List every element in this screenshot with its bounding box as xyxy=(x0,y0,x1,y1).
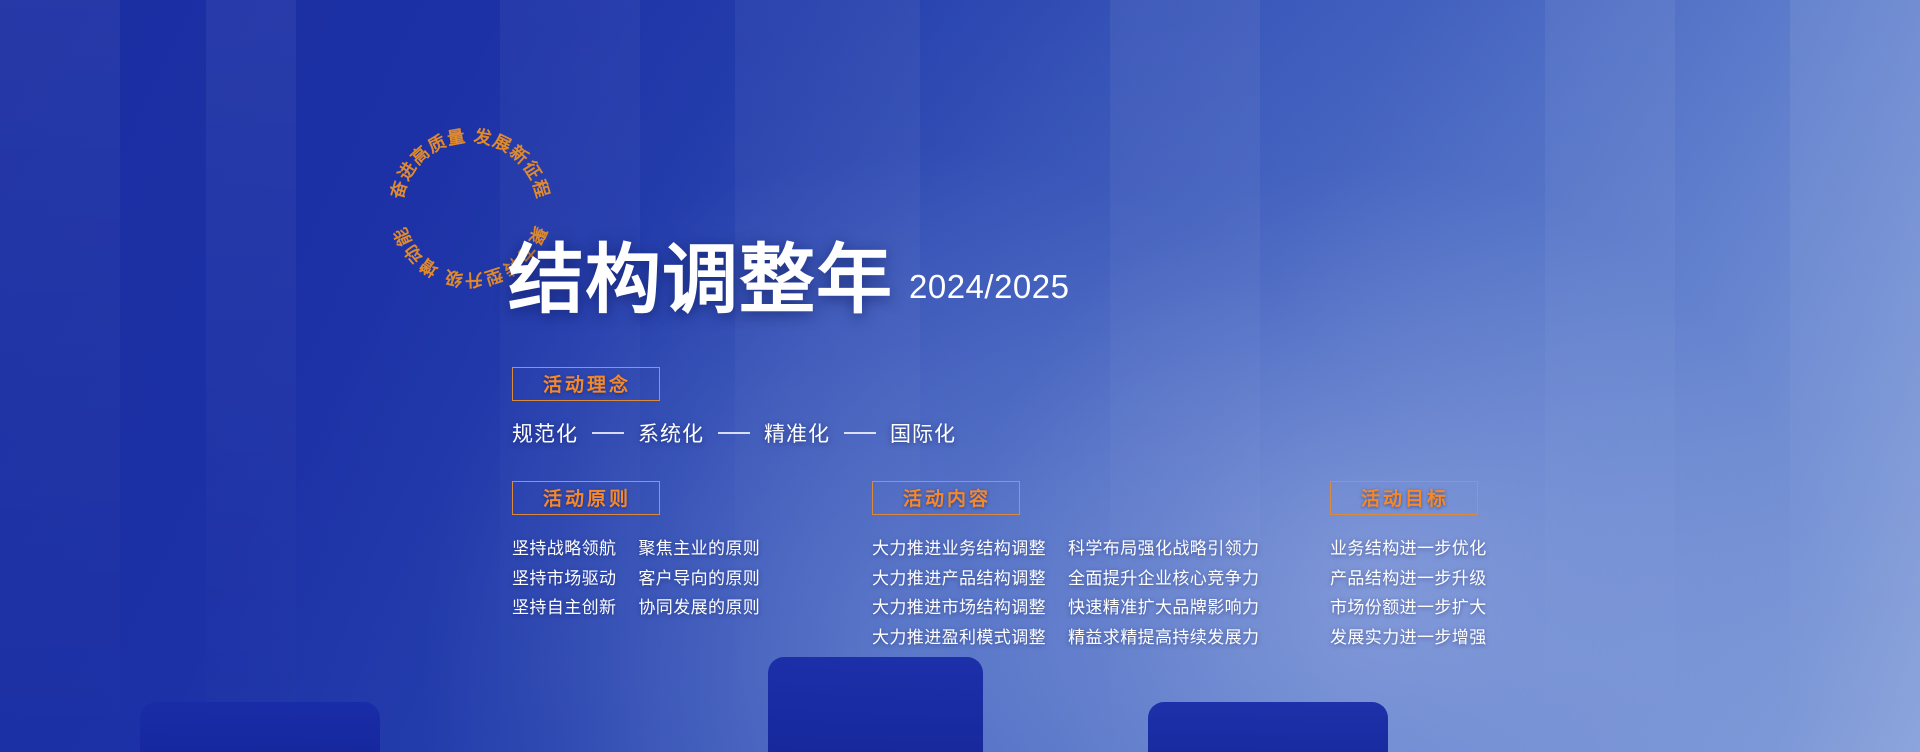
badge-activity-principles[interactable]: 活动原则 xyxy=(512,481,660,515)
list-item: 坚持自主创新 协同发展的原则 xyxy=(512,596,760,621)
column-body: 坚持战略领航 聚焦主业的原则 坚持市场驱动 客户导向的原则 坚持自主创新 协同发… xyxy=(512,537,760,621)
list-item-part: 精益求精提高持续发展力 xyxy=(1068,626,1259,651)
concept-slogan-row: 规范化 系统化 精准化 国际化 xyxy=(512,418,956,448)
concept-item-1: 系统化 xyxy=(638,418,704,448)
list-item-part: 产品结构进一步升级 xyxy=(1330,567,1487,592)
list-item: 坚持市场驱动 客户导向的原则 xyxy=(512,567,760,592)
stamp-text-top: 奋进高质量 发展新征程 xyxy=(386,126,553,202)
badge-activity-goals[interactable]: 活动目标 xyxy=(1330,481,1478,515)
slogan-divider-icon xyxy=(844,432,876,434)
list-item: 大力推进市场结构调整 快速精准扩大品牌影响力 xyxy=(872,596,1259,621)
concept-badge-wrap: 活动理念 xyxy=(512,367,660,401)
column-activity-principles: 活动原则 坚持战略领航 聚焦主业的原则 坚持市场驱动 客户导向的原则 坚持自主创… xyxy=(512,481,760,621)
list-item-part: 全面提升企业核心竞争力 xyxy=(1068,567,1259,592)
list-item: 大力推进业务结构调整 科学布局强化战略引领力 xyxy=(872,537,1259,562)
decorative-block-2 xyxy=(768,657,983,752)
list-item: 大力推进产品结构调整 全面提升企业核心竞争力 xyxy=(872,567,1259,592)
list-item: 业务结构进一步优化 xyxy=(1330,537,1487,562)
list-item: 市场份额进一步扩大 xyxy=(1330,596,1487,621)
list-item-part: 业务结构进一步优化 xyxy=(1330,537,1487,562)
list-item: 发展实力进一步增强 xyxy=(1330,626,1487,651)
list-item-part: 发展实力进一步增强 xyxy=(1330,626,1487,651)
list-item-part: 大力推进业务结构调整 xyxy=(872,537,1046,562)
list-item-part: 坚持市场驱动 xyxy=(512,567,616,592)
list-item-part: 坚持自主创新 xyxy=(512,596,616,621)
list-item-part: 市场份额进一步扩大 xyxy=(1330,596,1487,621)
list-item-part: 协同发展的原则 xyxy=(638,596,760,621)
slogan-divider-icon xyxy=(718,432,750,434)
slogan-divider-icon xyxy=(592,432,624,434)
list-item-part: 快速精准扩大品牌影响力 xyxy=(1068,596,1259,621)
list-item-part: 大力推进盈利模式调整 xyxy=(872,626,1046,651)
list-item: 大力推进盈利模式调整 精益求精提高持续发展力 xyxy=(872,626,1259,651)
band-7 xyxy=(1790,0,1920,752)
list-item-part: 聚焦主业的原则 xyxy=(638,537,760,562)
column-activity-content: 活动内容 大力推进业务结构调整 科学布局强化战略引领力 大力推进产品结构调整 全… xyxy=(872,481,1259,651)
title-row: 结构调整年 2024/2025 xyxy=(508,244,1070,316)
list-item-part: 客户导向的原则 xyxy=(638,567,760,592)
list-item: 产品结构进一步升级 xyxy=(1330,567,1487,592)
concept-item-3: 国际化 xyxy=(890,418,956,448)
list-item-part: 科学布局强化战略引领力 xyxy=(1068,537,1259,562)
concept-item-2: 精准化 xyxy=(764,418,830,448)
list-item-part: 大力推进产品结构调整 xyxy=(872,567,1046,592)
year-range: 2024/2025 xyxy=(909,268,1070,316)
band-1 xyxy=(0,0,120,752)
decorative-block-3 xyxy=(1148,702,1388,752)
column-body: 大力推进业务结构调整 科学布局强化战略引领力 大力推进产品结构调整 全面提升企业… xyxy=(872,537,1259,651)
list-item-part: 大力推进市场结构调整 xyxy=(872,596,1046,621)
concept-item-0: 规范化 xyxy=(512,418,578,448)
band-6 xyxy=(1545,0,1675,752)
badge-activity-content[interactable]: 活动内容 xyxy=(872,481,1020,515)
badge-activity-concept[interactable]: 活动理念 xyxy=(512,367,660,401)
column-activity-goals: 活动目标 业务结构进一步优化 产品结构进一步升级 市场份额进一步扩大 发展实力进… xyxy=(1330,481,1487,651)
page-title: 结构调整年 xyxy=(508,244,893,316)
list-item: 坚持战略领航 聚焦主业的原则 xyxy=(512,537,760,562)
column-body: 业务结构进一步优化 产品结构进一步升级 市场份额进一步扩大 发展实力进一步增强 xyxy=(1330,537,1487,651)
band-2 xyxy=(206,0,296,752)
list-item-part: 坚持战略领航 xyxy=(512,537,616,562)
promotional-banner: 奋进高质量 发展新征程 聚力转型升级 增动能 结构调整年 2024/2025 活… xyxy=(0,0,1920,752)
decorative-block-1 xyxy=(140,702,380,752)
